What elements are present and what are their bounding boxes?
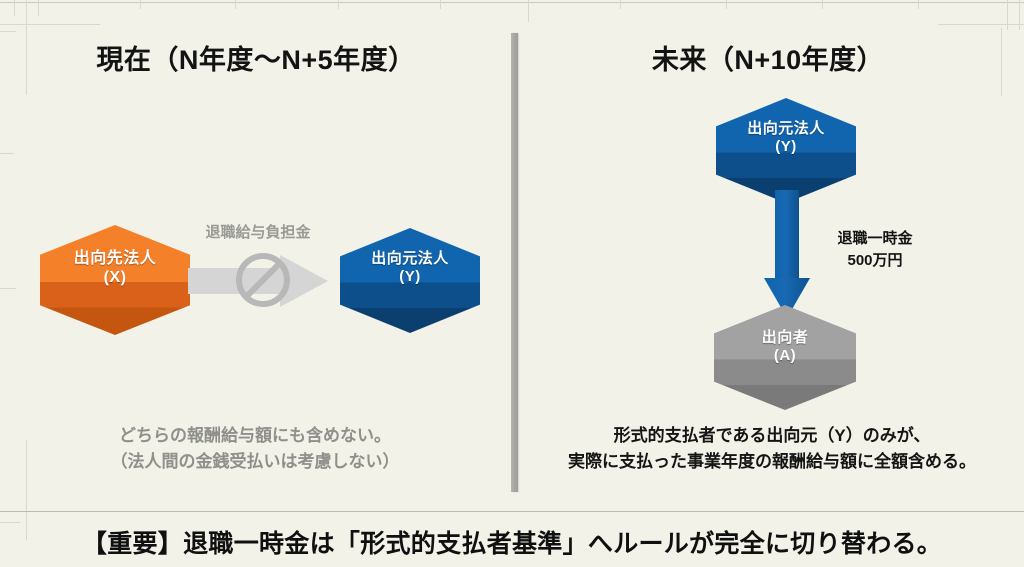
guide-line-upper-right [938,24,1024,25]
right-panel-caption: 形式的支払者である出向元（Y）のみが、 実際に支払った事業年度の報酬給与額に全額… [528,423,1016,476]
guide-tick-5 [338,0,339,9]
bottom-banner: 【重要】退職一時金は「形式的支払者基準」へルールが完全に切り替わる。 [0,516,1024,567]
guide-tick-6 [440,0,441,9]
guide-tick-12 [1007,0,1008,30]
guide-line-top [0,2,1024,3]
guide-tick-8 [620,0,621,9]
flow-label-lump-sum-line-2: 500万円 [800,250,950,272]
guide-line-upper-left [0,24,100,25]
guide-tick-9 [726,0,727,9]
hexagon-body [716,98,856,203]
panel-divider [511,33,518,492]
guide-tick-4 [235,0,236,9]
hexagon-node-shukkoumoto-y-left[interactable]: 出向元法人 (Y) [340,228,480,333]
hexagon-node-shukkoumoto-y-right[interactable]: 出向元法人 (Y) [716,98,856,203]
left-panel-caption: どちらの報酬給与額にも含めない。 （法人間の金銭受払いは考慮しない） [20,423,490,476]
guide-tick-3 [140,0,141,9]
guide-line-left-short [0,153,14,154]
left-caption-line-2: （法人間の金銭受払いは考慮しない） [20,449,490,475]
flow-label-lump-sum-line-1: 退職一時金 [800,228,950,250]
guide-tick-7 [528,0,529,22]
left-caption-line-1: どちらの報酬給与額にも含めない。 [20,423,490,449]
guide-tick-2 [38,0,39,16]
hexagon-body [714,305,856,410]
slide-canvas: 現在（N年度〜N+5年度） 未来（N+10年度） 出向先法人 (X) 退職給与負… [0,0,1024,567]
guide-tick-10 [822,0,823,9]
flow-label-burden: 退職給与負担金 [178,221,338,242]
guide-tick-11 [918,0,919,9]
guide-line-left-short-2 [0,288,16,289]
banner-text: 【重要】退職一時金は「形式的支払者基準」へルールが完全に切り替わる。 [82,524,942,560]
prohibition-icon [236,253,290,307]
guide-tick-1 [14,0,15,16]
left-panel-title: 現在（N年度〜N+5年度） [0,38,512,77]
arrow-shaft [775,190,799,282]
hexagon-node-shukkousaki-x[interactable]: 出向先法人 (X) [40,225,190,335]
banner-separator-line [0,511,1024,512]
hexagon-body [40,225,190,335]
right-caption-line-1: 形式的支払者である出向元（Y）のみが、 [528,423,1016,449]
hexagon-body [340,228,480,333]
hexagon-node-shukkousha-a[interactable]: 出向者 (A) [714,305,856,410]
flow-label-lump-sum: 退職一時金 500万円 [800,228,950,272]
guide-tick-13 [1019,0,1020,30]
right-panel-title: 未来（N+10年度） [512,38,1024,77]
right-caption-line-2: 実際に支払った事業年度の報酬給与額に全額含める。 [528,449,1016,475]
guide-line-left-mid [0,31,16,32]
